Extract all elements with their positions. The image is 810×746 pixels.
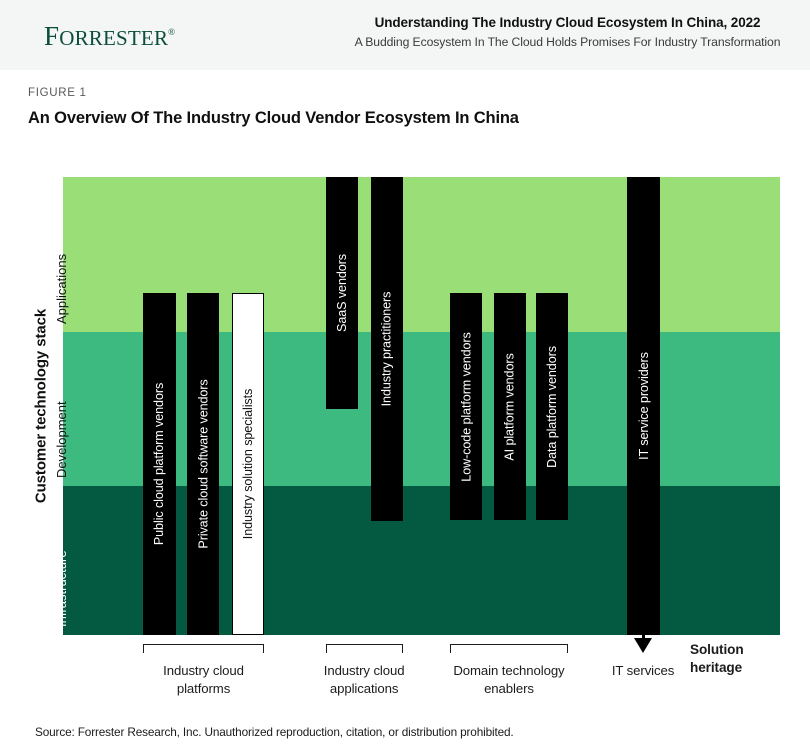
y-axis-caption-text: Customer technology stack xyxy=(33,309,50,503)
it-services-arrow-icon xyxy=(634,638,652,653)
band-label-development: Development xyxy=(54,402,69,479)
bar-private-cloud-software-vendors[interactable]: Private cloud software vendors xyxy=(187,293,219,635)
x-axis-caption-line1: Solution xyxy=(690,641,810,659)
bar-label: Data platform vendors xyxy=(545,346,559,468)
bar-label: AI platform vendors xyxy=(503,353,517,460)
bar-ai-platform-vendors[interactable]: AI platform vendors xyxy=(494,293,526,521)
group-label-line2: enablers xyxy=(419,680,599,698)
bar-label: Private cloud software vendors xyxy=(196,379,210,548)
bracket-industry-cloud-applications xyxy=(326,644,403,653)
bar-data-platform-vendors[interactable]: Data platform vendors xyxy=(536,293,568,521)
band-label-applications: Applications xyxy=(54,254,69,324)
figure-number: FIGURE 1 xyxy=(28,87,87,99)
group-label-line2: platforms xyxy=(114,680,294,698)
bar-label: Industry practitioners xyxy=(380,291,394,406)
y-axis-caption: Customer technology stack xyxy=(28,177,54,635)
bar-saas-vendors[interactable]: SaaS vendors xyxy=(326,177,358,409)
bar-label: Low-code platform vendors xyxy=(459,332,473,481)
x-axis-caption-line2: heritage xyxy=(690,659,810,677)
bar-low-code-platform-vendors[interactable]: Low-code platform vendors xyxy=(450,293,482,521)
group-label-line1: Industry cloud xyxy=(114,662,294,680)
bar-industry-practitioners[interactable]: Industry practitioners xyxy=(371,177,403,521)
figure-page: FORRESTER® Understanding The Industry Cl… xyxy=(0,0,810,746)
bar-industry-solution-specialists[interactable]: Industry solution specialists xyxy=(232,293,264,635)
bar-label: Industry solution specialists xyxy=(241,389,255,539)
bracket-industry-cloud-platforms xyxy=(143,644,263,653)
forrester-logo: FORRESTER® xyxy=(44,21,175,52)
bar-label: SaaS vendors xyxy=(335,254,349,332)
figure-title: An Overview Of The Industry Cloud Vendor… xyxy=(28,109,519,128)
bracket-domain-technology-enablers xyxy=(450,644,568,653)
bar-it-service-providers[interactable]: IT service providers xyxy=(627,177,659,635)
report-subtitle: A Budding Ecosystem In The Cloud Holds P… xyxy=(340,33,795,51)
x-axis-caption: Solutionheritage xyxy=(690,641,810,677)
band-label-infrastructure: Infrastructure xyxy=(54,550,69,627)
bar-label: Public cloud platform vendors xyxy=(152,383,166,545)
report-title: Understanding The Industry Cloud Ecosyst… xyxy=(340,14,795,32)
header-title-block: Understanding The Industry Cloud Ecosyst… xyxy=(340,14,795,51)
bar-label: IT service providers xyxy=(636,352,650,460)
group-label-industry-cloud: Industry cloudplatforms xyxy=(114,662,294,698)
chart-plot-area: ApplicationsDevelopmentInfrastructurePub… xyxy=(63,177,780,635)
source-note: Source: Forrester Research, Inc. Unautho… xyxy=(35,725,514,739)
page-header: FORRESTER® Understanding The Industry Cl… xyxy=(0,0,810,70)
bar-public-cloud-platform-vendors[interactable]: Public cloud platform vendors xyxy=(143,293,175,635)
